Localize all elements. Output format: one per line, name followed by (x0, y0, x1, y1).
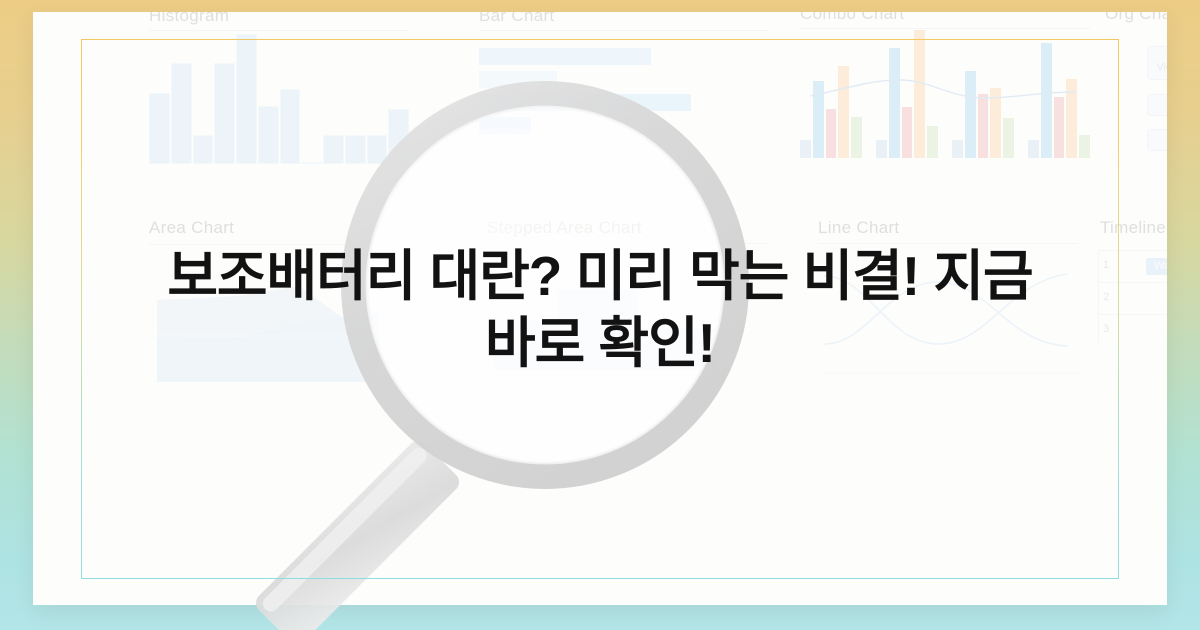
poster-canvas: Histogram Bar Chart (0, 0, 1200, 630)
panel-title-line-chart: Line Chart (818, 218, 899, 238)
panel-divider (479, 30, 769, 31)
histogram-bars (149, 34, 409, 164)
panel-org-chart: Org Chart Jerry Vice President Kent Clea… (1093, 12, 1167, 194)
panel-title-timeline: Timeline (1100, 218, 1166, 238)
panel-combo-chart: Combo Chart (788, 12, 1108, 189)
panel-title-bar-chart: Bar Chart (479, 12, 554, 26)
panel-divider (149, 30, 409, 31)
panel-title-org-chart: Org Chart (1105, 12, 1167, 24)
panel-title-area-chart: Area Chart (149, 218, 234, 238)
org-node: Cleaners (1147, 129, 1167, 151)
panel-divider (800, 28, 1090, 29)
panel-title-histogram: Histogram (149, 12, 229, 26)
panel-title-stepped-area-chart: Stepped Area Chart (487, 218, 642, 238)
panel-bar-chart: Bar Chart (451, 12, 781, 186)
poster-title: 보조배터리 대란? 미리 막는 비결! 지금 바로 확인! (0, 243, 1200, 377)
panel-title-combo-chart: Combo Chart (800, 12, 904, 24)
combo-chart-trend-line (800, 30, 1090, 158)
org-node: Kent (1147, 94, 1167, 116)
panel-histogram: Histogram (119, 12, 419, 196)
org-node: Jerry Vice President (1147, 46, 1167, 80)
org-node-role: Vice President (1157, 62, 1167, 73)
